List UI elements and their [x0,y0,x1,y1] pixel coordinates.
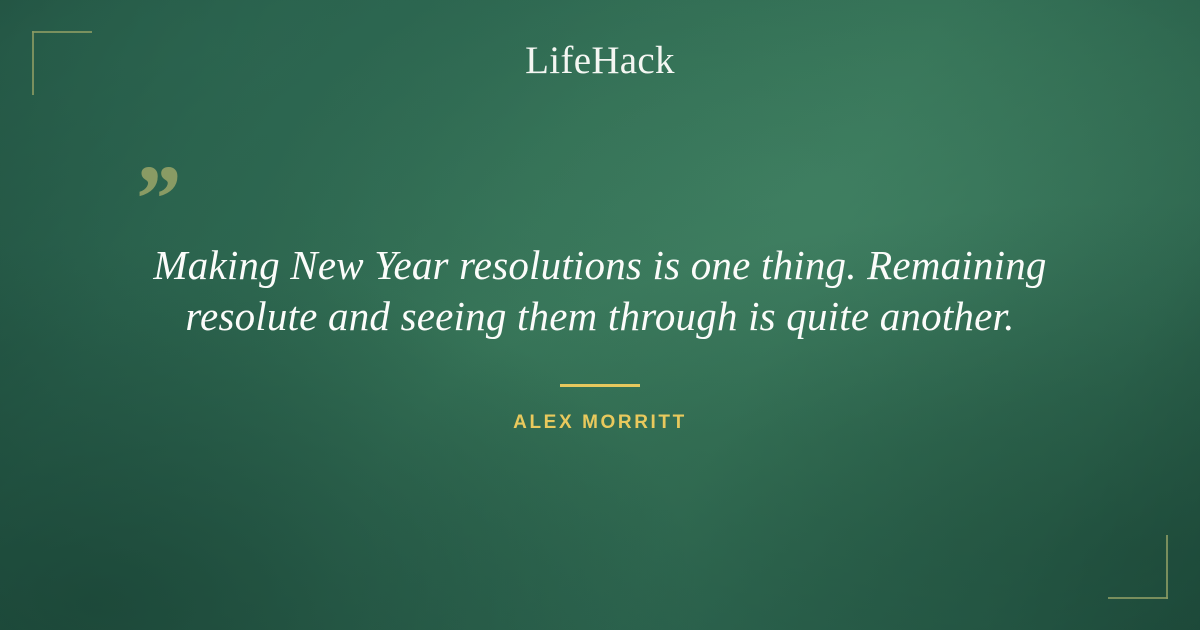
quotation-mark-icon: ” [131,151,179,247]
corner-bracket-bottom-right-vertical-line [1166,535,1168,599]
corner-bracket-bottom-right-icon [1108,535,1168,599]
corner-bracket-top-left-horizontal-line [32,31,92,33]
brand-logo: LifeHack [0,40,1200,83]
author-divider [560,384,640,387]
author-name: ALEX MORRITT [0,412,1200,434]
corner-bracket-bottom-right-horizontal-line [1108,597,1168,599]
quote-card: LifeHack ” Making New Year resolutions i… [0,0,1200,630]
quote-block: Making New Year resolutions is one thing… [100,240,1100,342]
quote-text: Making New Year resolutions is one thing… [100,240,1100,342]
